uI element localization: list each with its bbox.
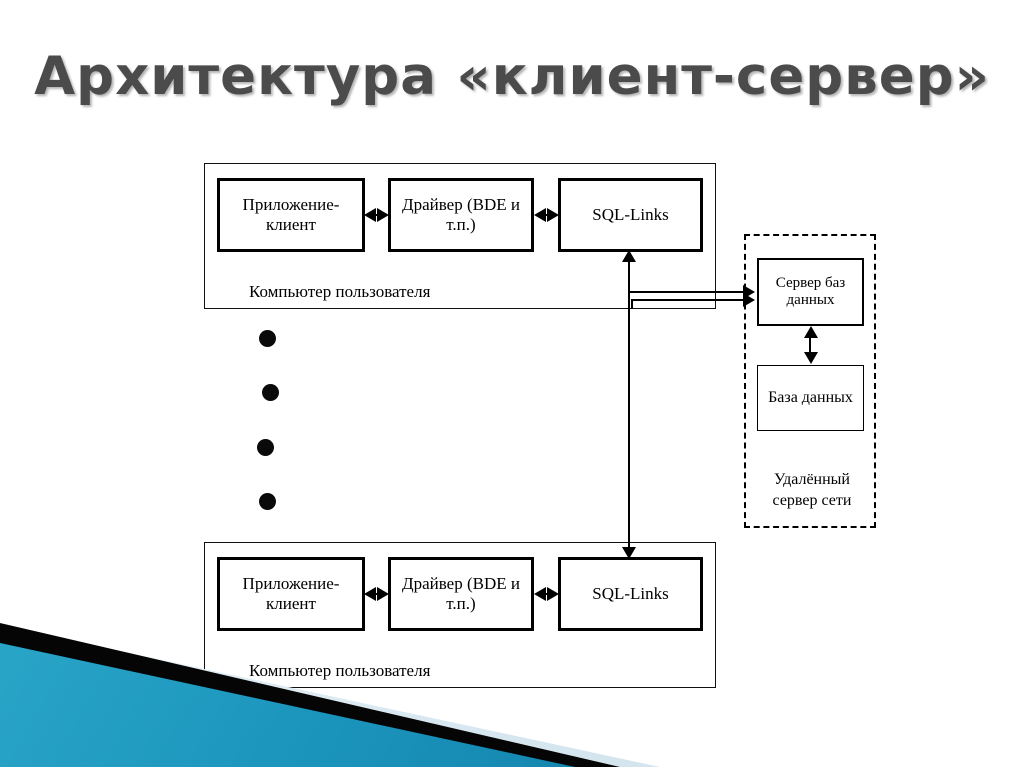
app-client-label: Приложение-клиент	[224, 574, 358, 613]
arrowhead-left-driver-sql-top	[534, 208, 546, 222]
arrowhead-right-driver-sql-bottom	[547, 587, 559, 601]
driver-box-bottom: Драйвер (BDE и т.п.)	[388, 557, 534, 631]
connector-sql-trunk-vertical	[628, 258, 630, 550]
sql-links-box-top: SQL-Links	[558, 178, 703, 252]
client-host-top-label: Компьютер пользователя	[249, 282, 430, 302]
remote-server-zone-label-line2: сервер сети	[766, 491, 858, 511]
ellipsis-dot-1	[259, 330, 276, 347]
arrowhead-down-sql-links-bottom	[622, 547, 636, 559]
remote-server-zone-label-line1: Удалённый	[770, 470, 854, 490]
ellipsis-dot-3	[257, 439, 274, 456]
app-client-label: Приложение-клиент	[224, 195, 358, 234]
client-host-bottom-label: Компьютер пользователя	[249, 661, 430, 681]
sql-links-box-bottom: SQL-Links	[558, 557, 703, 631]
driver-label: Драйвер (BDE и т.п.)	[395, 574, 527, 613]
ellipsis-dot-4	[259, 493, 276, 510]
connector-branch-upper	[628, 291, 747, 293]
arrowhead-right-driver-sql-top	[547, 208, 559, 222]
arrowhead-right-app-driver-top	[377, 208, 389, 222]
app-client-box-bottom: Приложение-клиент	[217, 557, 365, 631]
sql-links-label: SQL-Links	[592, 205, 669, 225]
arrowhead-left-app-driver-bottom	[364, 587, 376, 601]
arrowhead-left-app-driver-top	[364, 208, 376, 222]
driver-label: Драйвер (BDE и т.п.)	[395, 195, 527, 234]
arrowhead-right-app-driver-bottom	[377, 587, 389, 601]
page-title: Архитектура «клиент-сервер»	[0, 46, 1024, 107]
slide-canvas: Архитектура «клиент-сервер» Приложение-к…	[0, 0, 1024, 767]
sql-links-label: SQL-Links	[592, 584, 669, 604]
arrowhead-left-driver-sql-bottom	[534, 587, 546, 601]
ellipsis-dot-2	[262, 384, 279, 401]
database-label: База данных	[768, 388, 853, 407]
arrowhead-down-database	[804, 352, 818, 364]
app-client-box-top: Приложение-клиент	[217, 178, 365, 252]
connector-branch-lower	[631, 299, 747, 301]
db-server-label: Сервер баз данных	[763, 275, 858, 310]
database-box: База данных	[757, 365, 864, 431]
db-server-box: Сервер баз данных	[757, 258, 864, 326]
driver-box-top: Драйвер (BDE и т.п.)	[388, 178, 534, 252]
arrowhead-up-db-server	[804, 326, 818, 338]
arrowhead-up-sql-links-top	[622, 250, 636, 262]
